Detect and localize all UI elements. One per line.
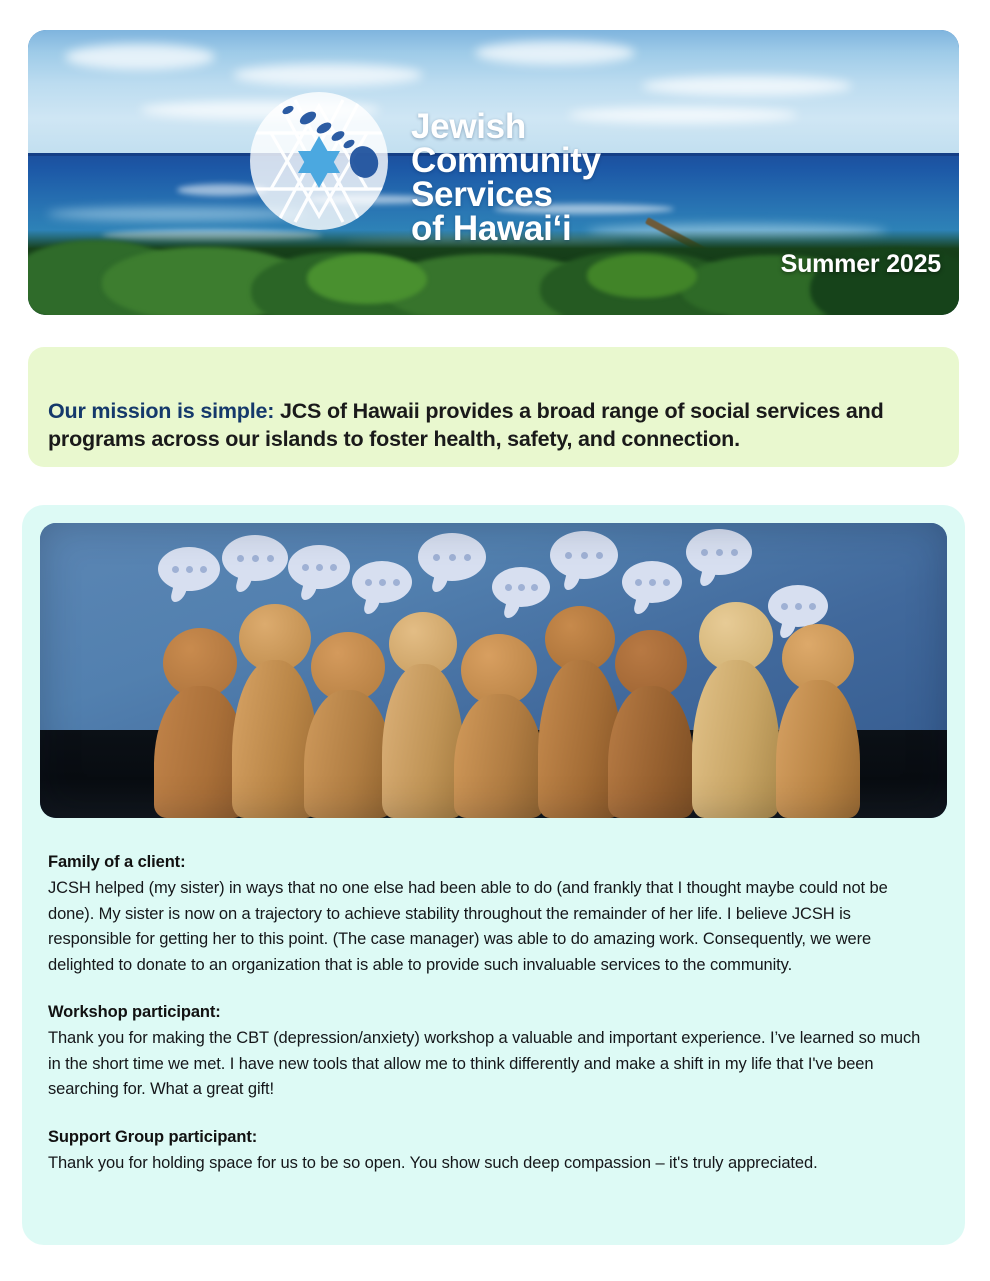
peg-figure bbox=[606, 630, 696, 818]
brand-line-3: Services bbox=[411, 178, 601, 212]
testimonial-speaker: Family of a client: bbox=[48, 850, 945, 874]
peg-figure bbox=[690, 602, 782, 818]
speech-bubble-icon bbox=[492, 567, 550, 607]
testimonial-text: JCSH helped (my sister) in ways that no … bbox=[48, 876, 932, 978]
brand-line-2: Community bbox=[411, 144, 601, 178]
testimonial-item: Workshop participant: Thank you for maki… bbox=[48, 1000, 945, 1103]
wave-crest bbox=[47, 207, 307, 221]
testimonial-text: Thank you for making the CBT (depression… bbox=[48, 1026, 932, 1103]
testimonial-panel: Family of a client: JCSH helped (my sist… bbox=[22, 505, 965, 1245]
speech-bubble-icon bbox=[352, 561, 412, 603]
testimonial-list: Family of a client: JCSH helped (my sist… bbox=[48, 850, 945, 1198]
speech-bubble-icon bbox=[288, 545, 350, 589]
speech-bubble-icon bbox=[622, 561, 682, 603]
bush-shape bbox=[587, 254, 697, 298]
mission-statement: Our mission is simple: JCS of Hawaii pro… bbox=[48, 397, 923, 453]
brand-line-4: of Hawaiʻi bbox=[411, 212, 601, 246]
peg-figure bbox=[774, 624, 862, 818]
cloud-shape bbox=[642, 76, 852, 96]
speech-bubble-icon bbox=[158, 547, 220, 591]
bush-shape bbox=[307, 254, 427, 304]
testimonial-text: Thank you for holding space for us to be… bbox=[48, 1151, 932, 1177]
issue-label: Summer 2025 bbox=[781, 250, 941, 279]
cloud-shape bbox=[568, 107, 798, 123]
testimonial-item: Support Group participant: Thank you for… bbox=[48, 1125, 945, 1177]
header-banner: Jewish Community Services of Hawaiʻi Sum… bbox=[28, 30, 959, 315]
testimonial-item: Family of a client: JCSH helped (my sist… bbox=[48, 850, 945, 978]
star-of-david-hawaii-islands-logo bbox=[250, 92, 388, 230]
wave-crest bbox=[177, 184, 267, 196]
cloud-shape bbox=[233, 64, 423, 86]
mission-panel: Our mission is simple: JCS of Hawaii pro… bbox=[28, 347, 959, 467]
speech-bubble-icon bbox=[222, 535, 288, 581]
speech-bubble-icon bbox=[686, 529, 752, 575]
brand-line-1: Jewish bbox=[411, 110, 601, 144]
speech-bubble-icon bbox=[550, 531, 618, 579]
peg-figure bbox=[452, 634, 546, 818]
wooden-peg-people-with-speech-bubbles bbox=[40, 523, 947, 818]
brand-wordmark: Jewish Community Services of Hawaiʻi bbox=[411, 110, 601, 246]
testimonial-speaker: Support Group participant: bbox=[48, 1125, 945, 1149]
speech-bubble-icon bbox=[418, 533, 486, 581]
testimonial-speaker: Workshop participant: bbox=[48, 1000, 945, 1024]
mission-lead: Our mission is simple: bbox=[48, 399, 274, 423]
